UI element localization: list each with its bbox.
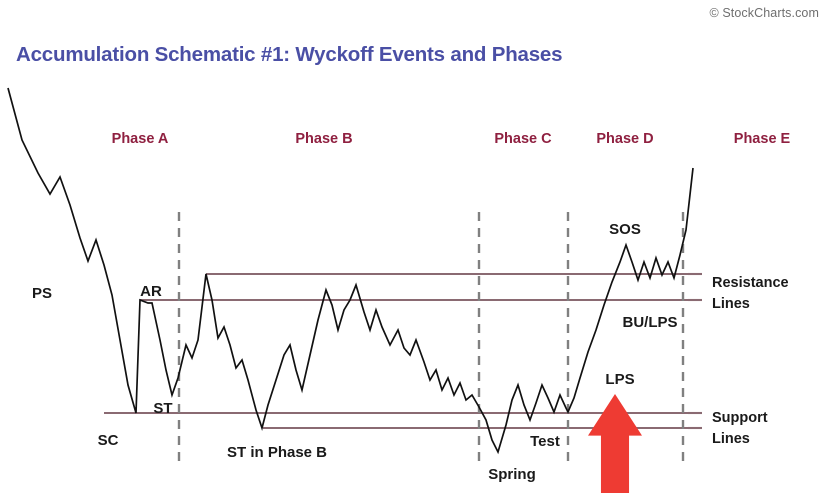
schematic-svg: Phase APhase BPhase CPhase DPhase E PSSC… [0, 0, 831, 493]
event-label-ar: AR [140, 283, 162, 300]
wyckoff-schematic-diagram: © StockCharts.com Accumulation Schematic… [0, 0, 831, 493]
event-label-lps: LPS [605, 371, 634, 388]
event-label-st-phase-b: ST in Phase B [227, 444, 327, 461]
event-label-test: Test [530, 433, 560, 450]
side-label-resistance-lines-line2: Lines [712, 296, 750, 312]
phase-label-phase-b: Phase B [295, 131, 352, 147]
side-label-support-lines-line1: Support [712, 410, 768, 426]
phase-label-phase-d: Phase D [596, 131, 653, 147]
event-label-ps: PS [32, 285, 52, 302]
up-arrow [588, 394, 642, 493]
event-label-bu-lps: BU/LPS [622, 314, 677, 331]
side-labels-group: ResistanceLinesSupportLines [712, 275, 789, 447]
side-label-support-lines-line2: Lines [712, 431, 750, 447]
event-label-spring: Spring [488, 466, 536, 483]
event-label-sc: SC [98, 432, 119, 449]
line-tick-stubs-group [688, 274, 702, 428]
side-label-resistance-lines-line1: Resistance [712, 275, 789, 291]
up-arrow-group [588, 394, 642, 493]
event-label-sos: SOS [609, 221, 641, 238]
phase-labels-group: Phase APhase BPhase CPhase DPhase E [112, 131, 791, 147]
phase-label-phase-c: Phase C [494, 131, 552, 147]
event-label-st: ST [153, 400, 172, 417]
event-labels-group: PSSCARSTST in Phase BSpringTestLPSBU/LPS… [32, 221, 678, 483]
phase-label-phase-e: Phase E [734, 131, 791, 147]
phase-label-phase-a: Phase A [112, 131, 169, 147]
